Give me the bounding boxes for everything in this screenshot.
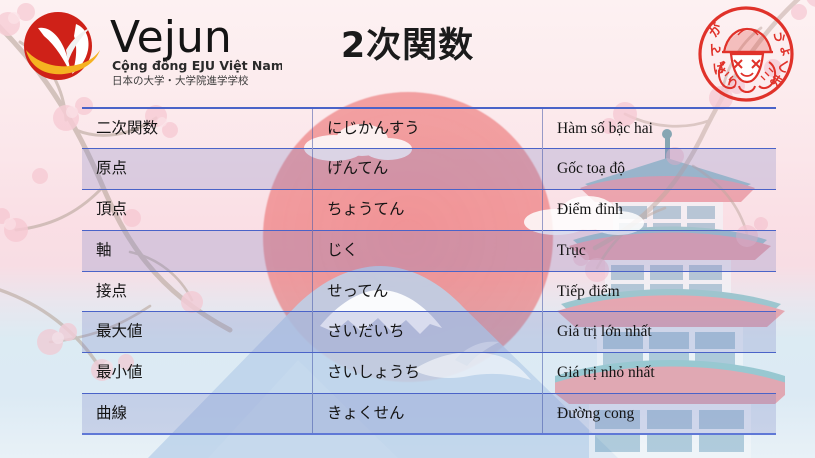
slide: Vejun Cộng đồng EJU Việt Nam 日本の大学・大学院進学… [0,0,815,458]
table-body: 二次関数 にじかんすう Hàm số bậc hai 原点 げんてん Gốc t… [82,108,776,434]
cell-japanese: 軸 [82,230,313,271]
cell-vietnamese: Giá trị lớn nhất [543,312,777,353]
cell-furigana: さいしょうち [313,353,543,394]
svg-text:り: り [724,76,740,93]
table-row: 最大値 さいだいち Giá trị lớn nhất [82,312,776,353]
table-row: 接点 せってん Tiếp điểm [82,271,776,312]
cell-furigana: さいだいち [313,312,543,353]
table-row: 最小値 さいしょうち Giá trị nhỏ nhất [82,353,776,394]
svg-text:う: う [770,30,786,45]
table-row: 頂点 ちょうてん Điểm đỉnh [82,190,776,231]
svg-text:ん: ん [706,40,725,59]
cell-japanese: 頂点 [82,190,313,231]
cell-japanese: 最大値 [82,312,313,353]
cell-furigana: げんてん [313,149,543,190]
cell-vietnamese: Hàm số bậc hai [543,108,777,149]
cell-vietnamese: Tiếp điểm [543,271,777,312]
cell-furigana: じく [313,230,543,271]
cell-furigana: にじかんすう [313,108,543,149]
table-row: 軸 じく Trục [82,230,776,271]
cell-vietnamese: Điểm đỉnh [543,190,777,231]
vocabulary-table: 二次関数 にじかんすう Hàm số bậc hai 原点 げんてん Gốc t… [82,107,776,435]
logo-tagline-jp: 日本の大学・大学院進学学校 [112,74,249,87]
cell-vietnamese: Đường cong [543,394,777,435]
cell-japanese: 原点 [82,149,313,190]
cell-furigana: せってん [313,271,543,312]
cell-japanese: 接点 [82,271,313,312]
cell-furigana: ちょうてん [313,190,543,231]
svg-text:が: が [706,20,727,40]
cell-japanese: 最小値 [82,353,313,394]
ganbarimasho-stamp: が ん ば り ま し ょ う [691,2,801,106]
cell-japanese: 二次関数 [82,108,313,149]
table-row: 原点 げんてん Gốc toạ độ [82,149,776,190]
cell-vietnamese: Gốc toạ độ [543,149,777,190]
table-row: 二次関数 にじかんすう Hàm số bậc hai [82,108,776,149]
cell-vietnamese: Trục [543,230,777,271]
cell-furigana: きょくせん [313,394,543,435]
cell-japanese: 曲線 [82,394,313,435]
cell-vietnamese: Giá trị nhỏ nhất [543,353,777,394]
table-row: 曲線 きょくせん Đường cong [82,394,776,435]
